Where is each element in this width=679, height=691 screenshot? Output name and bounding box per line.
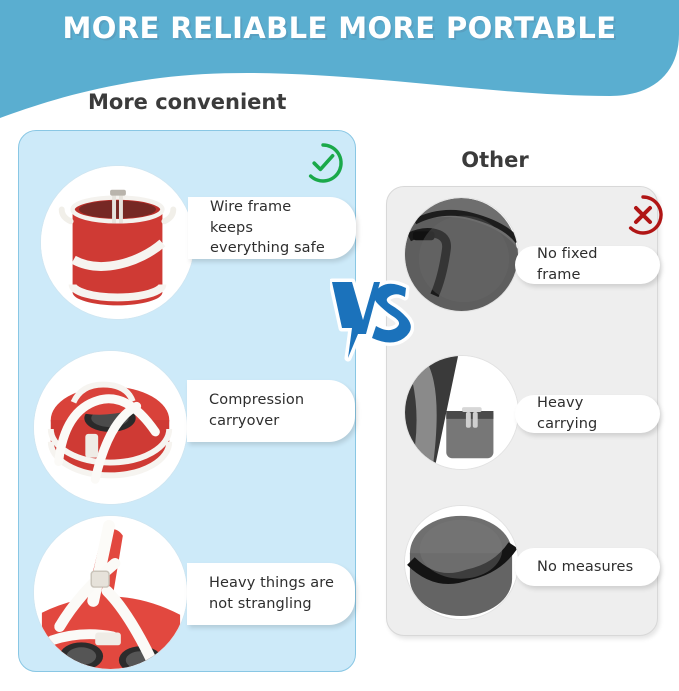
feature-line-2: carryover [209, 413, 279, 429]
thumbnail-gray-bag-collapsed [404, 505, 519, 620]
feature-label-no-fixed-frame: No fixed frame [515, 246, 660, 284]
thumbnail-red-hamper-strap [33, 515, 188, 670]
thumbnail-red-popup-hamper [40, 165, 195, 320]
gray-bag-collapsed-art [405, 506, 518, 619]
gray-soft-bag-top-art [405, 198, 518, 311]
red-hamper-strap-art [34, 516, 187, 669]
feature-line-1: No measures [537, 557, 633, 578]
banner-title: MORE RELIABLE MORE PORTABLE [0, 11, 679, 45]
feature-line-1: Compression [209, 392, 304, 408]
comparison-infographic: MORE RELIABLE MORE PORTABLE More conveni… [0, 0, 679, 691]
feature-line-1: No fixed frame [537, 244, 642, 285]
vs-badge [330, 272, 414, 362]
feature-label-no-measures: No measures [515, 548, 660, 586]
check-circle-icon [300, 140, 346, 186]
feature-label-heavy-carrying: Heavy carrying [515, 395, 660, 433]
feature-line-1: Heavy things are [209, 575, 334, 591]
gray-bag-on-shoulder-art [405, 356, 518, 469]
feature-line-1: Heavy carrying [537, 393, 642, 434]
heading-more-convenient: More convenient [88, 90, 286, 114]
feature-label-heavy-things: Heavy things are not strangling [187, 563, 355, 625]
thumbnail-gray-bag-top [404, 197, 519, 312]
thumbnail-red-hamper-folded [33, 350, 188, 505]
red-hamper-folded-art [34, 351, 187, 504]
feature-line-2: everything safe [210, 240, 325, 256]
feature-line-1: Wire frame keeps [210, 199, 291, 236]
cross-circle-icon [620, 192, 666, 238]
feature-line-2: not strangling [209, 596, 312, 612]
thumbnail-gray-bag-shoulder [404, 355, 519, 470]
heading-other: Other [461, 148, 528, 172]
feature-label-wire-frame: Wire frame keeps everything safe [188, 197, 356, 259]
vs-lightning-graphic [330, 272, 414, 362]
feature-label-compression: Compression carryover [187, 380, 355, 442]
red-hamper-cylinder-art [41, 166, 194, 319]
